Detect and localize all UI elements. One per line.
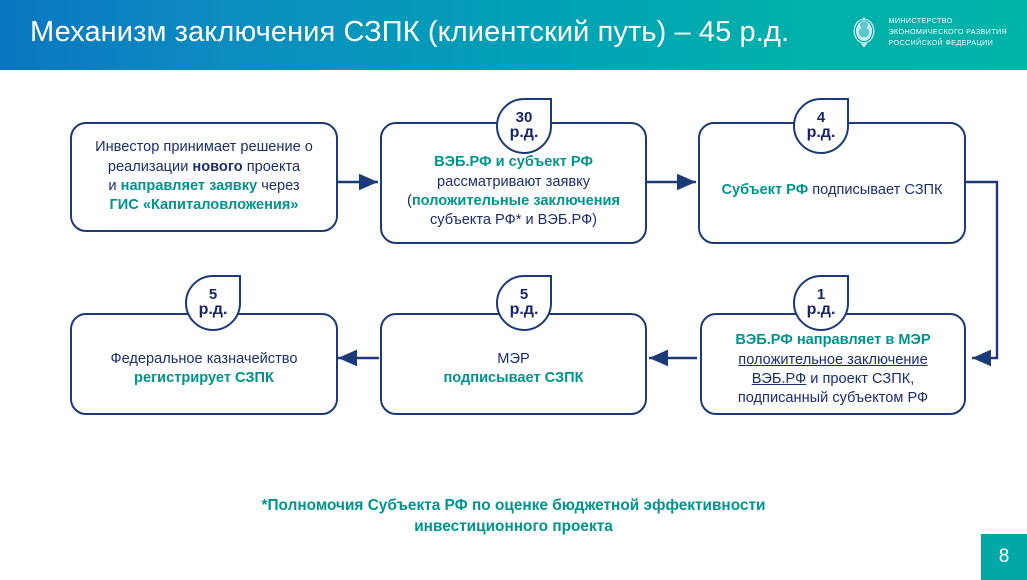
node-text: Федеральное казначейство — [111, 351, 298, 367]
investor-decision-box[interactable]: Инвестор принимает решение о реализации … — [70, 122, 338, 232]
duration-badge-5-treasury: 5 р.д. — [185, 275, 241, 331]
node-text: подписанный субъектом РФ — [738, 390, 928, 406]
slide-header: Механизм заключения СЗПК (клиентский пут… — [0, 0, 1027, 70]
badge-unit: р.д. — [807, 302, 836, 319]
node-text: и проект СЗПК, — [806, 371, 914, 387]
badge-unit: р.д. — [510, 302, 539, 319]
node-text-underlined: положительное заключение — [738, 352, 927, 368]
ministry-line-3: РОССИЙСКОЙ ФЕДЕРАЦИИ — [889, 38, 1007, 47]
badge-number: 5 — [520, 287, 528, 303]
badge-number: 30 — [516, 110, 533, 126]
node-text-emphasis: ГИС «Капиталовложения» — [110, 197, 299, 213]
badge-number: 5 — [209, 287, 217, 303]
badge-number: 4 — [817, 110, 825, 126]
node-text-underlined: ВЭБ.РФ — [752, 371, 807, 387]
node-text: подписывает СЗПК — [808, 182, 942, 198]
duration-badge-4: 4 р.д. — [793, 98, 849, 154]
ministry-logo: МИНИСТЕРСТВО ЭКОНОМИЧЕСКОГО РАЗВИТИЯ РОС… — [847, 12, 1007, 50]
page-title: Механизм заключения СЗПК (клиентский пут… — [30, 16, 789, 49]
node-text: проекта — [243, 159, 301, 175]
badge-unit: р.д. — [510, 125, 539, 142]
node-text-emphasis: регистрирует СЗПК — [134, 370, 274, 386]
node-text: через — [257, 178, 299, 194]
page-number-badge: 8 — [981, 534, 1027, 580]
badge-unit: р.д. — [807, 125, 836, 142]
ministry-line-2: ЭКОНОМИЧЕСКОГО РАЗВИТИЯ — [889, 27, 1007, 36]
node-text-emphasis: ВЭБ.РФ направляет в МЭР — [735, 332, 930, 348]
node-text: МЭР — [497, 351, 529, 367]
badge-number: 1 — [817, 287, 825, 303]
footnote-line-2: инвестиционного проекта — [0, 517, 1027, 538]
node-text-emphasis: подписывает СЗПК — [443, 370, 583, 386]
node-text-emphasis: Субъект РФ — [721, 182, 808, 198]
node-text-emphasis: нового — [192, 159, 242, 175]
duration-badge-5-mer: 5 р.д. — [496, 275, 552, 331]
node-text: и — [108, 178, 120, 194]
duration-badge-30: 30 р.д. — [496, 98, 552, 154]
node-text: субъекта РФ* и ВЭБ.РФ) — [430, 212, 597, 228]
edge-subject-to-veb — [966, 182, 997, 358]
russian-coat-of-arms-icon — [847, 12, 881, 50]
node-text-emphasis: ВЭБ.РФ и субъект РФ — [434, 154, 593, 170]
duration-badge-1: 1 р.д. — [793, 275, 849, 331]
ministry-line-1: МИНИСТЕРСТВО — [889, 16, 1007, 25]
badge-unit: р.д. — [199, 302, 228, 319]
node-text: реализации — [108, 159, 193, 175]
node-text-emphasis: положительные заключения — [412, 193, 620, 209]
node-text: рассматривают заявку — [437, 174, 590, 190]
node-text: Инвестор принимает решение о — [95, 139, 313, 155]
node-text-emphasis: направляет заявку — [121, 178, 258, 194]
footnote-line-1: *Полномочия Субъекта РФ по оценке бюджет… — [0, 496, 1027, 517]
footnote: *Полномочия Субъекта РФ по оценке бюджет… — [0, 496, 1027, 538]
